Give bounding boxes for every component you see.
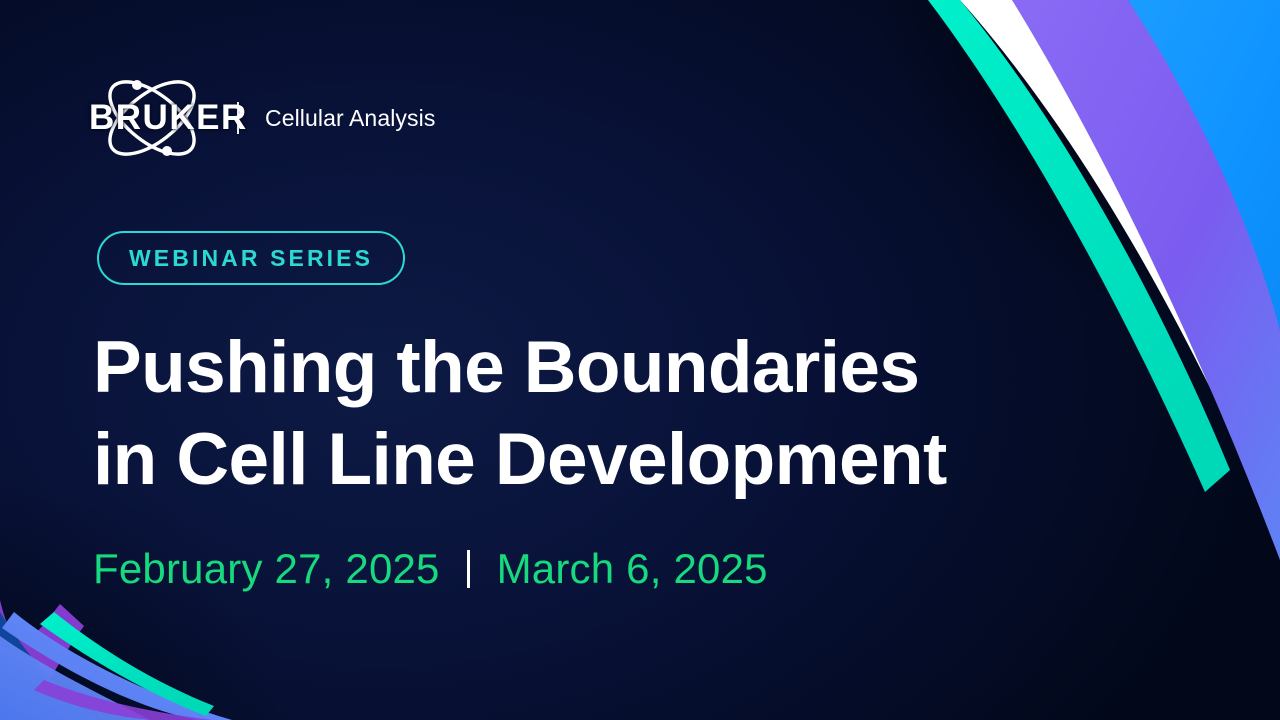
banner-content: BRUKER Cellular Analysis WEBINAR SERIES … bbox=[93, 0, 1103, 720]
logo-divider bbox=[237, 102, 239, 134]
bruker-wordmark: BRUKER bbox=[89, 98, 248, 138]
logo-subtitle: Cellular Analysis bbox=[265, 105, 435, 132]
headline-line-1: Pushing the Boundaries bbox=[93, 322, 1103, 414]
atom-icon: BRUKER bbox=[93, 64, 211, 172]
brand-logo: BRUKER Cellular Analysis bbox=[93, 62, 435, 174]
page-title: Pushing the Boundaries in Cell Line Deve… bbox=[93, 322, 1103, 506]
event-dates: February 27, 2025 March 6, 2025 bbox=[93, 545, 768, 593]
headline-line-2: in Cell Line Development bbox=[93, 414, 1103, 506]
webinar-series-badge: WEBINAR SERIES bbox=[97, 231, 405, 285]
event-date-second: March 6, 2025 bbox=[497, 545, 768, 593]
webinar-banner: BRUKER Cellular Analysis WEBINAR SERIES … bbox=[0, 0, 1280, 720]
event-date-first: February 27, 2025 bbox=[93, 545, 440, 593]
date-separator bbox=[467, 550, 470, 588]
